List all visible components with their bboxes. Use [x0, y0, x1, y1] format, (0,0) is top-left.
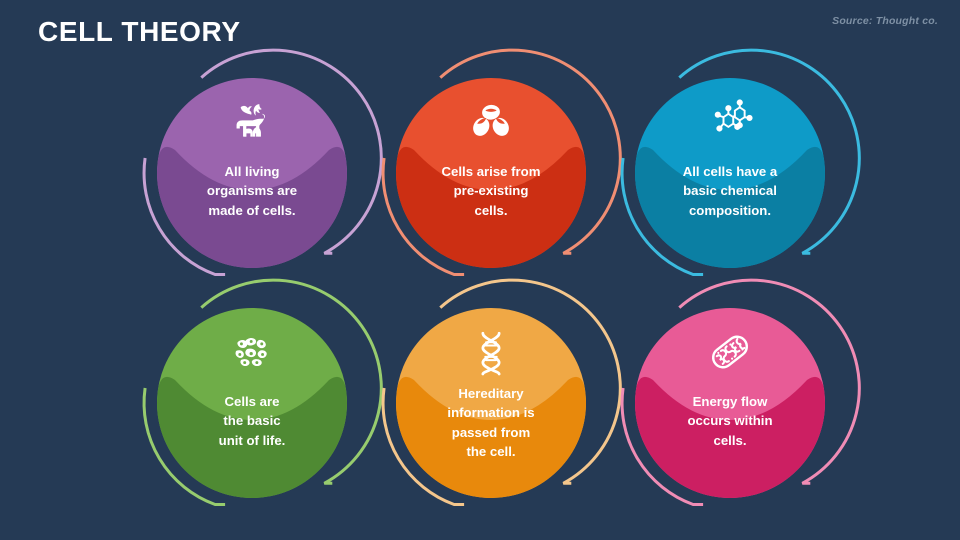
card-caption: Cells are the basic unit of life.: [165, 392, 339, 450]
mitochondria-icon: [635, 326, 825, 378]
card-disc: Energy flow occurs within cells.: [635, 308, 825, 498]
cell-theory-card[interactable]: Energy flow occurs within cells.: [615, 296, 845, 526]
blood-cells-icon: [396, 96, 586, 148]
cell-theory-card[interactable]: Cells are the basic unit of life.: [137, 296, 367, 526]
cell-theory-card[interactable]: Hereditary information is passed from th…: [376, 296, 606, 526]
slide-canvas: CELL THEORY Source: Thought co. All liv: [0, 0, 960, 540]
card-caption: Hereditary information is passed from th…: [404, 384, 578, 462]
dna-helix-icon: [396, 326, 586, 378]
card-caption: All living organisms are made of cells.: [165, 162, 339, 220]
molecule-icon: [635, 96, 825, 148]
card-caption: Energy flow occurs within cells.: [643, 392, 817, 450]
card-caption: All cells have a basic chemical composit…: [643, 162, 817, 220]
card-disc: Hereditary information is passed from th…: [396, 308, 586, 498]
card-caption: Cells arise from pre-existing cells.: [404, 162, 578, 220]
cell-theory-card[interactable]: All living organisms are made of cells.: [137, 66, 367, 296]
animals-deer-bird-icon: [157, 96, 347, 148]
card-disc: Cells arise from pre-existing cells.: [396, 78, 586, 268]
card-disc: All cells have a basic chemical composit…: [635, 78, 825, 268]
cell-cluster-icon: [157, 326, 347, 378]
page-title: CELL THEORY: [38, 16, 241, 48]
card-disc: All living organisms are made of cells.: [157, 78, 347, 268]
cell-theory-card[interactable]: All cells have a basic chemical composit…: [615, 66, 845, 296]
source-label: Source: Thought co.: [832, 15, 938, 27]
card-disc: Cells are the basic unit of life.: [157, 308, 347, 498]
cell-theory-card[interactable]: Cells arise from pre-existing cells.: [376, 66, 606, 296]
